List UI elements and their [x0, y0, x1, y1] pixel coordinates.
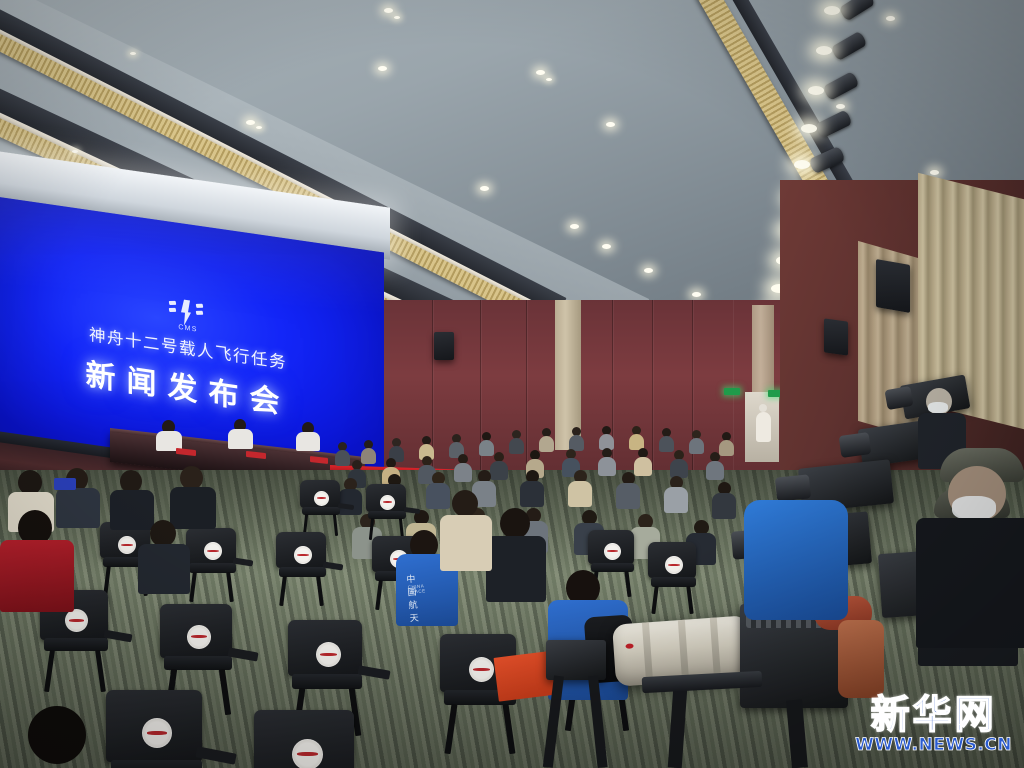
tripod-icon	[543, 675, 564, 768]
jacket-text-en: CHINA SPACE	[408, 583, 426, 594]
chair-armrest	[338, 503, 355, 510]
stage-spotlight-icon	[830, 31, 867, 62]
recessed-downlight-icon	[72, 150, 78, 153]
stage-spotlight-icon	[838, 0, 875, 22]
stage-spotlight-glow	[794, 160, 810, 169]
chair-badge-icon	[665, 556, 683, 574]
torso	[486, 536, 546, 602]
recessed-downlight-icon	[394, 16, 400, 19]
chair-leg	[503, 704, 516, 754]
foreground-tripod-cluster	[540, 640, 660, 768]
recessed-downlight-icon	[546, 78, 552, 81]
torso	[138, 544, 190, 594]
recessed-downlight-icon	[378, 66, 387, 71]
camera-lens	[839, 432, 872, 458]
head	[150, 520, 176, 547]
tripod-icon	[588, 675, 608, 768]
recessed-downlight-icon	[384, 8, 393, 13]
recessed-downlight-icon	[602, 244, 611, 249]
torso	[509, 438, 524, 454]
torso	[916, 518, 1024, 648]
lens-ring	[678, 620, 689, 682]
chair-leg	[375, 580, 383, 610]
chair-badge-icon	[469, 657, 494, 682]
camera-handle-icon	[838, 620, 884, 698]
chair-badge-icon	[380, 495, 395, 510]
face-mask-icon	[928, 402, 948, 413]
face-mask-icon	[952, 496, 996, 520]
recessed-downlight-icon	[570, 224, 579, 229]
recessed-downlight-icon	[644, 268, 653, 273]
torso	[440, 515, 492, 571]
chair-leg	[369, 518, 374, 540]
torso	[228, 429, 253, 449]
press-backpack	[744, 500, 848, 620]
torso	[689, 438, 704, 454]
torso	[719, 440, 734, 456]
lens-ring	[710, 617, 721, 679]
camera-lens	[775, 474, 811, 501]
stage-spotlight-icon	[822, 71, 860, 101]
stage-spotlight-glow	[808, 86, 824, 95]
torso	[110, 490, 154, 530]
recessed-downlight-icon	[692, 292, 701, 297]
recessed-downlight-icon	[536, 70, 545, 75]
torso	[361, 448, 376, 464]
recessed-downlight-icon	[256, 126, 262, 129]
head	[500, 508, 530, 539]
cms-logo-icon	[165, 294, 211, 331]
phone-icon	[54, 478, 76, 490]
torso	[56, 488, 100, 528]
stage-spotlight-icon	[808, 146, 846, 174]
recessed-downlight-icon	[480, 186, 489, 191]
torso	[0, 540, 74, 612]
torso	[479, 440, 494, 456]
press-conference-photo: CMS 神舟十二号载人飞行任务 新闻发布会	[0, 0, 1024, 768]
stage-spotlight-glow	[801, 124, 817, 133]
head	[28, 706, 86, 764]
recessed-downlight-icon	[246, 120, 255, 125]
head	[452, 490, 478, 517]
exit-sign-icon	[724, 388, 740, 395]
recessed-downlight-icon	[606, 122, 615, 127]
wall-speaker-icon	[876, 259, 910, 313]
recessed-downlight-icon	[130, 52, 136, 55]
torso	[539, 436, 554, 452]
tripod-icon	[786, 699, 808, 768]
stage-spotlight-glow	[824, 6, 840, 15]
chair-armrest	[404, 507, 421, 514]
chair-badge-icon	[604, 543, 621, 560]
stage-spotlight-glow	[816, 46, 832, 55]
torso	[659, 436, 674, 452]
torso	[170, 487, 216, 529]
chair-armrest	[357, 665, 390, 679]
chair-leg	[445, 704, 458, 754]
wall-speaker-icon	[434, 332, 454, 360]
torso	[296, 432, 320, 451]
video-camera-icon	[546, 640, 606, 680]
wall-speaker-icon	[824, 318, 848, 355]
audience-foreground-left	[0, 460, 340, 768]
stage-spotlight-icon	[815, 109, 853, 138]
